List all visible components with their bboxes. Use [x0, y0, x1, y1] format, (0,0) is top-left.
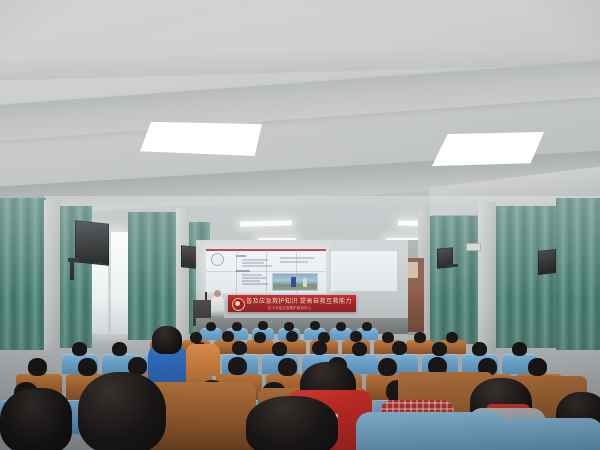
audience-head — [28, 358, 47, 376]
audience-head — [362, 322, 372, 331]
slide-demonstration-photo — [272, 273, 318, 291]
foreground-head-center — [246, 396, 338, 450]
audience-head — [350, 331, 362, 342]
speaker-head — [214, 290, 221, 297]
foreground-seat-blue-1 — [356, 412, 506, 450]
foreground-head-far-left — [0, 388, 72, 450]
audience-head — [528, 358, 547, 376]
audience-head — [72, 342, 87, 356]
foreground-seat-blue-2 — [498, 418, 600, 450]
audience-head — [432, 342, 447, 356]
audience-head — [228, 357, 247, 375]
slide-text-line-2 — [242, 259, 268, 261]
audience-head — [258, 321, 268, 330]
wall-speaker-left-icon — [75, 220, 109, 266]
audience-head — [446, 332, 458, 343]
slide-text-right-1 — [280, 257, 314, 259]
audience-head — [336, 322, 346, 331]
exit-sign — [466, 243, 481, 251]
auditorium-photo: 普及应急救护知识 提高自救互救能力 红十字会应急救护培训中心 — [0, 0, 600, 450]
audience-head — [254, 332, 266, 343]
panel-light-right-front-icon — [432, 132, 544, 166]
slide-text-line-9 — [242, 283, 268, 285]
slide-photo-figure-1 — [291, 277, 296, 287]
slide-text-line-5 — [236, 270, 250, 272]
audience-head — [278, 358, 297, 376]
audience-head — [352, 342, 367, 356]
audience-head — [286, 331, 298, 342]
audience-head — [414, 332, 426, 343]
child-orange-top — [186, 344, 220, 376]
wall-speaker-mid-left-icon — [181, 245, 197, 268]
audience-head — [312, 341, 327, 355]
panel-light-left-front-icon — [140, 122, 262, 156]
audience-head — [284, 322, 294, 331]
audience-head — [472, 342, 487, 356]
audience-head — [232, 341, 247, 355]
audience-head — [78, 358, 97, 376]
foreground-head-left — [78, 372, 166, 450]
slide-text-line-3 — [242, 262, 264, 264]
slide-text-line-6 — [242, 274, 262, 276]
slide-text-line-1 — [236, 255, 246, 257]
wall-speaker-right-bracket — [448, 264, 458, 267]
slide-text-right-2 — [280, 261, 308, 263]
audience-head — [382, 332, 394, 343]
slide-text-line-7 — [242, 277, 266, 279]
projection-screen — [206, 249, 326, 293]
audience-head — [222, 331, 234, 342]
audience-head — [378, 358, 397, 376]
whiteboard-panel — [330, 250, 398, 292]
audience-head — [392, 341, 407, 355]
slide-photo-figure-2 — [303, 278, 307, 287]
strip-light-row-1-left-icon — [240, 220, 292, 226]
audience-head — [112, 342, 127, 356]
slide-organization-logo-icon — [211, 253, 224, 266]
slide-text-line-4 — [242, 265, 272, 267]
screen-seam-h1 — [206, 271, 326, 272]
wall-speaker-far-right-icon — [538, 249, 556, 275]
audience-head — [272, 342, 287, 356]
audience-head — [232, 322, 242, 331]
audience-head — [310, 321, 320, 330]
audience-head — [206, 322, 216, 331]
audience-head — [512, 342, 527, 356]
child-blue-jacket-head — [152, 326, 182, 354]
slide-text-line-8 — [242, 280, 260, 282]
wall-speaker-left-pole — [70, 258, 74, 280]
